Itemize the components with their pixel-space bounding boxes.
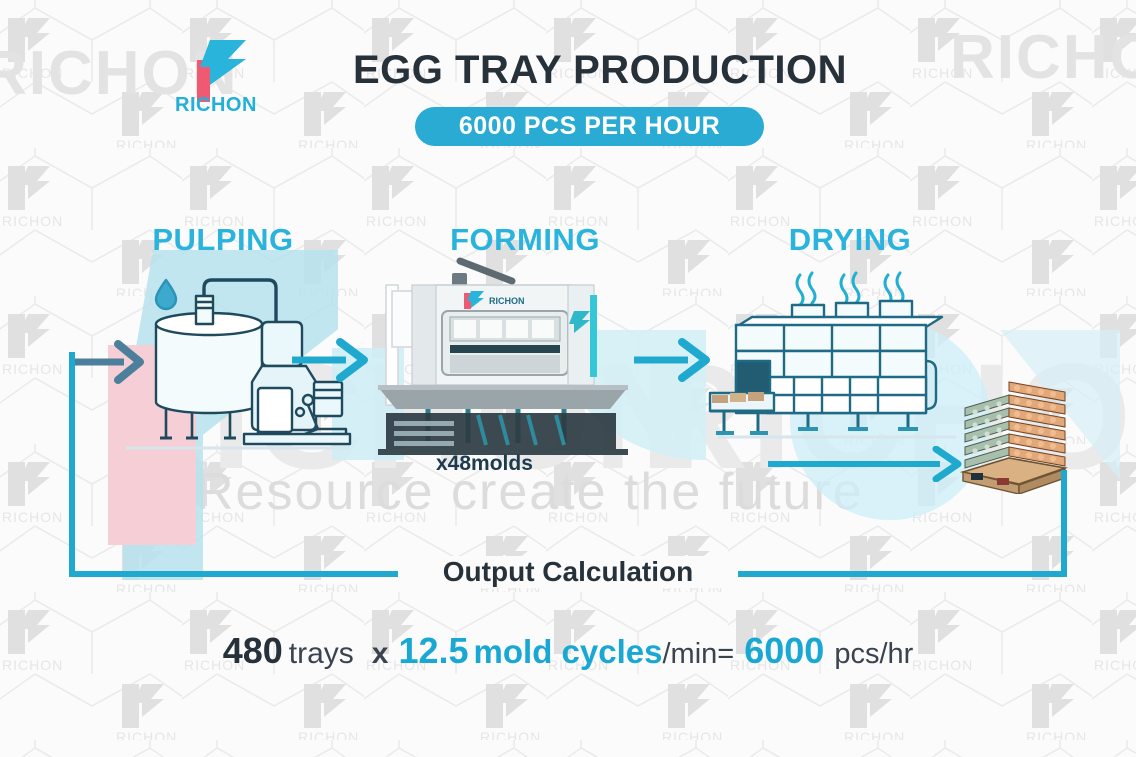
formula-per-min: /min (662, 638, 717, 670)
formula-result-value: 6000 (744, 630, 824, 671)
capacity-badge: 6000 PCS PER HOUR (415, 107, 764, 146)
formula-operator: x (372, 637, 389, 670)
page-title: EGG TRAY PRODUCTION (300, 48, 900, 93)
stage-label-forming: FORMING (425, 222, 625, 258)
output-formula: 480traysx12.5mold cycles/min=6000pcs/hr (0, 630, 1136, 672)
formula-result-unit: pcs/hr (834, 638, 913, 670)
forming-molds-note: x48molds (436, 452, 533, 476)
stage-label-drying: DRYING (760, 222, 940, 258)
watermark-richon-large: RICHON (950, 22, 1136, 93)
formula-trays-value: 480 (223, 630, 283, 671)
svg-text:RICHON: RICHON (489, 296, 525, 306)
stage-label-pulping: PULPING (118, 222, 328, 258)
infographic-canvas: RICHON RICHON RICHON RICHON Resource cre… (0, 0, 1136, 757)
formula-trays-unit: trays (289, 637, 354, 670)
brand-name: RICHON (168, 94, 264, 117)
formula-cycles-word: mold cycles (474, 633, 663, 670)
output-calculation-bracket (68, 352, 1068, 584)
formula-cycles-value: 12.5 (398, 630, 468, 671)
formula-equals: = (717, 638, 734, 670)
output-calculation-heading: Output Calculation (398, 556, 738, 588)
